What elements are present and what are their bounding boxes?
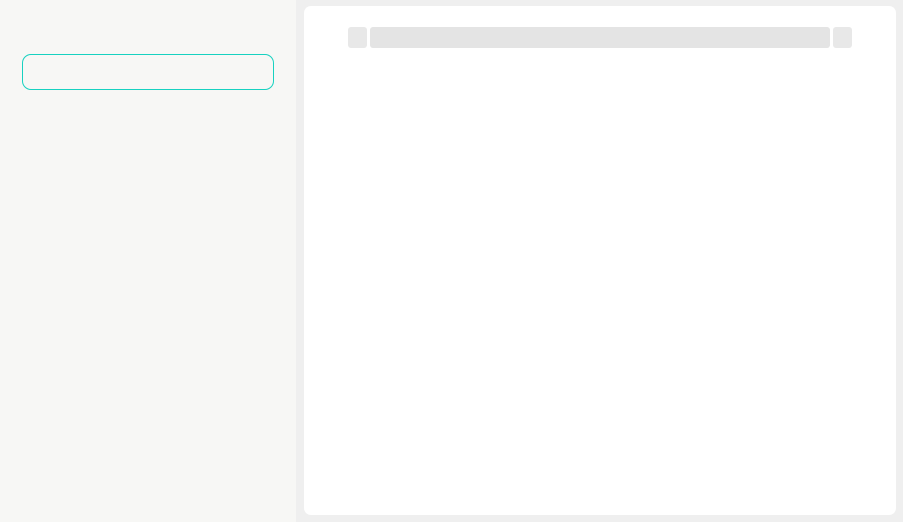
region-dropdown[interactable] (370, 27, 830, 48)
page-title (22, 18, 274, 42)
report-cta-box (22, 54, 274, 90)
next-region-button[interactable] (833, 27, 852, 48)
dashboard-card (304, 6, 896, 515)
dashboard-panel (296, 0, 903, 522)
yoy-chart-row (316, 290, 884, 509)
cta-text (35, 64, 262, 79)
metrics-chart-row (316, 58, 884, 290)
region-selector (348, 27, 852, 48)
prev-region-button[interactable] (348, 27, 367, 48)
report-page (0, 0, 903, 522)
article-panel (0, 0, 296, 522)
